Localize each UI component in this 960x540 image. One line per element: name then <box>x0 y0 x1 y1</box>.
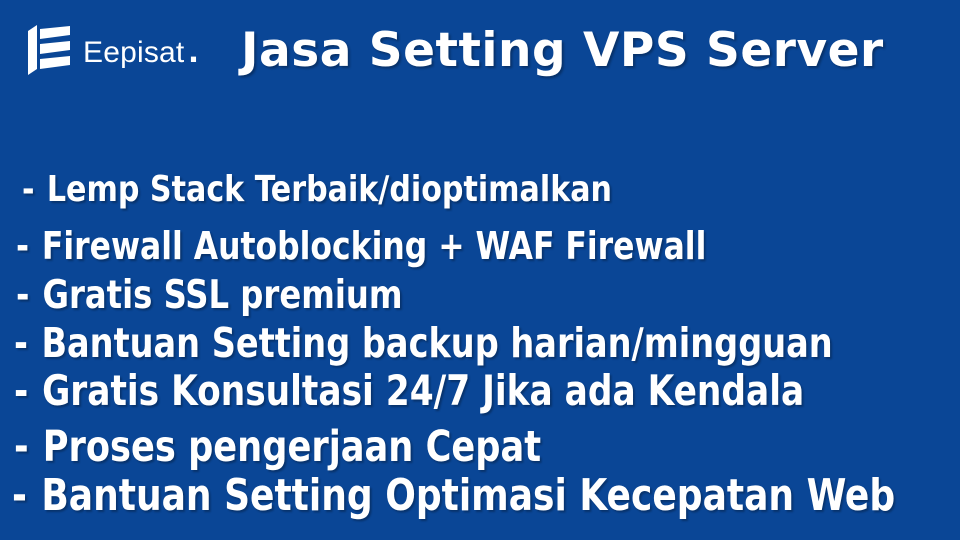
list-item-label: Proses pengerjaan Cepat <box>43 422 541 472</box>
brand-wordmark: Eepisat . <box>83 32 199 68</box>
brand-logo[interactable]: Eepisat . <box>28 25 199 75</box>
brand-wordmark-text: Eepisat <box>83 38 184 68</box>
list-item-label: Gratis Konsultasi 24/7 Jika ada Kendala <box>42 366 804 415</box>
promo-banner: Eepisat . Jasa Setting VPS Server - Lemp… <box>0 0 960 540</box>
list-item-label: Lemp Stack Terbaik/dioptimalkan <box>47 169 612 210</box>
list-item: - Firewall Autoblocking + WAF Firewall <box>16 227 706 265</box>
banner-header: Eepisat . Jasa Setting VPS Server <box>0 0 960 100</box>
list-item-label: Gratis SSL premium <box>42 273 402 318</box>
list-item-label: Bantuan Setting Optimasi Kecepatan Web <box>41 470 895 521</box>
bullet-marker: - <box>16 276 29 315</box>
brand-wordmark-dot: . <box>188 32 198 68</box>
list-item: - Proses pengerjaan Cepat <box>14 426 541 469</box>
bullet-marker: - <box>22 172 35 208</box>
bullet-marker: - <box>16 227 29 265</box>
list-item: - Lemp Stack Terbaik/dioptimalkan <box>22 172 612 208</box>
list-item-label: Firewall Autoblocking + WAF Firewall <box>42 224 706 268</box>
bullet-marker: - <box>14 426 29 469</box>
banner-title: Jasa Setting VPS Server <box>199 27 960 74</box>
list-item: - Bantuan Setting backup harian/mingguan <box>14 323 833 364</box>
bullet-marker: - <box>14 370 28 412</box>
list-item: - Bantuan Setting Optimasi Kecepatan Web <box>12 474 895 518</box>
feature-list: - Lemp Stack Terbaik/dioptimalkan - Fire… <box>0 100 960 540</box>
bullet-marker: - <box>14 323 28 364</box>
eepisat-e-monogram-icon <box>28 25 70 75</box>
list-item: - Gratis Konsultasi 24/7 Jika ada Kendal… <box>14 370 804 412</box>
bullet-marker: - <box>12 474 27 518</box>
list-item: - Gratis SSL premium <box>16 276 403 315</box>
list-item-label: Bantuan Setting backup harian/mingguan <box>41 319 832 367</box>
